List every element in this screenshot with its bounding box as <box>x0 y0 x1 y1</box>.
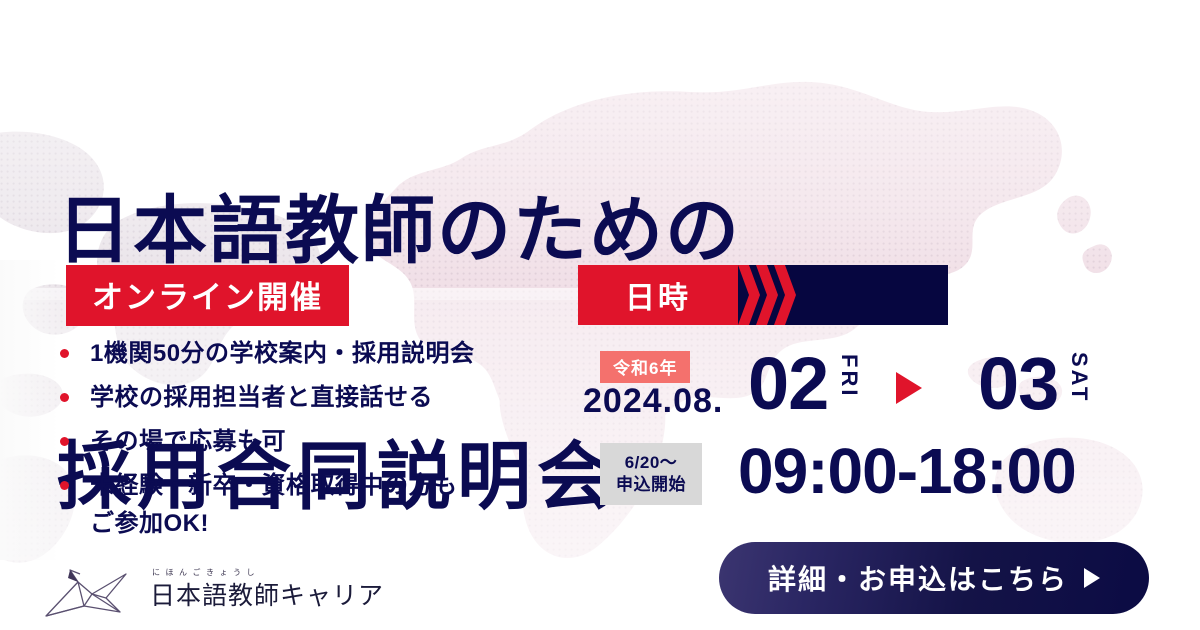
start-day-of-week: FRI <box>836 354 862 398</box>
brand-logo[interactable]: にほんごきょうし 日本語教師キャリア <box>40 560 384 627</box>
logo-name: 日本語教師キャリア <box>150 583 384 610</box>
era-badge: 令和6年 <box>600 351 690 383</box>
bullet-text: 1機関50分の学校案内・採用説明会 <box>90 335 475 373</box>
application-start-badge: 6/20〜 申込開始 <box>600 443 702 505</box>
event-time-row: 6/20〜 申込開始 09:00-18:00 <box>578 440 1138 512</box>
list-item: 1機関50分の学校案内・採用説明会 <box>60 335 570 373</box>
bullet-dot-icon <box>60 393 69 402</box>
arrow-right-icon <box>1084 568 1100 588</box>
logo-furigana: にほんごきょうし <box>152 567 260 578</box>
details-and-apply-button[interactable]: 詳細・お申込はこちら <box>719 542 1149 614</box>
list-item: 未経験・新卒・資格取得中の方も ご参加OK! <box>60 467 570 543</box>
cta-label: 詳細・お申込はこちら <box>768 558 1068 598</box>
end-day-of-week: SAT <box>1066 352 1092 403</box>
year-month-text: 2024.08. <box>583 382 723 421</box>
logo-text-group: にほんごきょうし 日本語教師キャリア <box>150 576 384 612</box>
bullet-text: 未経験・新卒・資格取得中の方も ご参加OK! <box>90 467 458 543</box>
event-date-row: 令和6年 2024.08. 02 FRI 03 SAT <box>578 340 1138 432</box>
bullet-text: その場で応募も可 <box>90 423 286 461</box>
online-event-badge: オンライン開催 <box>66 265 349 326</box>
end-day-number: 03 <box>978 347 1058 421</box>
bullet-text: 学校の採用担当者と直接話せる <box>90 379 433 417</box>
bullet-dot-icon <box>60 481 69 490</box>
event-banner: 日本語教師のための 採用合同説明会 オンライン開催 1機関50分の学校案内・採用… <box>0 0 1200 630</box>
title-line-1: 日本語教師のための <box>57 190 741 272</box>
origami-crane-icon <box>40 560 144 627</box>
feature-bullet-list: 1機関50分の学校案内・採用説明会 学校の採用担当者と直接話せる その場で応募も… <box>60 335 570 549</box>
list-item: 学校の採用担当者と直接話せる <box>60 379 570 417</box>
bullet-dot-icon <box>60 349 69 358</box>
event-time-text: 09:00-18:00 <box>738 435 1076 507</box>
schedule-header-label: 日時 <box>578 265 738 325</box>
list-item: その場で応募も可 <box>60 423 570 461</box>
left-fade-overlay <box>0 260 60 560</box>
start-day-number: 02 <box>748 347 828 421</box>
application-start-date: 6/20〜 <box>625 452 678 474</box>
application-start-label: 申込開始 <box>616 474 686 496</box>
schedule-header-bar: 日時 <box>578 265 948 325</box>
date-range-arrow-icon <box>896 372 922 404</box>
bullet-dot-icon <box>60 437 69 446</box>
